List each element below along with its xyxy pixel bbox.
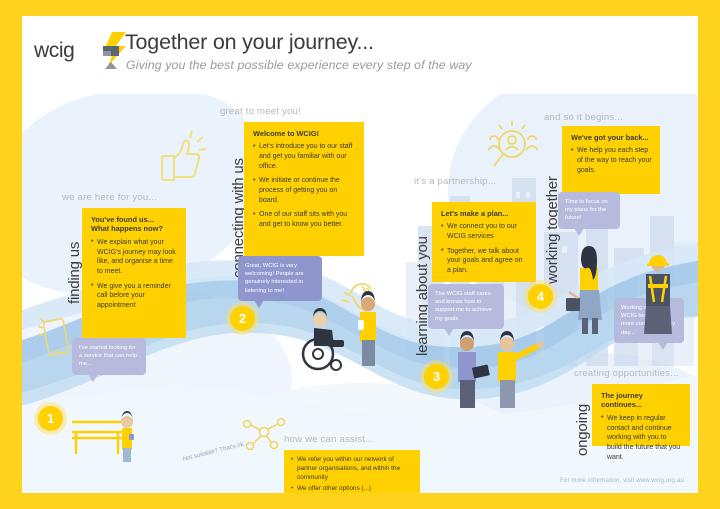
bullet: We initiate or continue the process of g…	[253, 176, 356, 205]
bullet: Together, we talk about your goals and a…	[441, 247, 528, 276]
vlabel-step-1: finding us	[66, 242, 83, 304]
info-box-ongoing: The journey continues... We keep in regu…	[592, 384, 690, 446]
kicker-step-2: great to meet you!	[220, 106, 301, 117]
step-number-4: 4	[528, 284, 553, 309]
person-seated-with-laptop	[458, 331, 490, 408]
footer-text: For more information, visit www.wcig.org…	[560, 477, 684, 484]
page-title: Together on your journey...	[125, 30, 374, 55]
infographic-poster: wcig Together on your journey... Giving …	[0, 0, 720, 509]
bullet: One of our staff sits with you and get t…	[253, 210, 356, 229]
two-people-with-laptop-illustration	[440, 322, 552, 414]
bullet: We offer other options (...)	[291, 485, 413, 493]
info-box-bullets-step-1: We explain what your WCIG's journey may …	[91, 238, 178, 311]
quote-bubble-step-4: Time to focus on my plans for the future…	[558, 192, 620, 229]
info-box-title-ongoing: The journey continues...	[601, 391, 682, 410]
info-box-step-4: We've got your back... We help you each …	[562, 126, 660, 194]
bullet: We explain what your WCIG's journey may …	[91, 238, 178, 277]
network-nodes-icon	[240, 412, 288, 456]
info-box-step-2: Welcome to WCIG! Let's introduce you to …	[244, 122, 364, 256]
woman-walking-with-bag	[566, 246, 602, 334]
info-box-bullets-assist: We refer you within our network of partn…	[291, 456, 413, 493]
bullet: We give you a reminder call before your …	[91, 282, 178, 311]
page-subtitle: Giving you the best possible experience …	[126, 58, 472, 72]
wheelchair-user-and-staff-illustration	[284, 268, 394, 376]
info-box-step-3: Let's make a plan... We connect you to o…	[432, 202, 536, 282]
info-box-title-step-4: We've got your back...	[571, 133, 652, 142]
info-box-bullets-step-2: Let's introduce you to our staff and get…	[253, 142, 356, 229]
info-box-bullets-ongoing: We keep in regular contact and continue …	[601, 414, 682, 462]
people-search-icon	[482, 118, 544, 178]
step-number-3: 3	[424, 364, 449, 389]
info-box-title-step-2: Welcome to WCIG!	[253, 129, 356, 138]
step-number-2: 2	[230, 306, 255, 331]
bullet: Let's introduce you to our staff and get…	[253, 142, 356, 171]
bullet: We keep in regular contact and continue …	[601, 414, 682, 462]
step-number-1: 1	[38, 406, 63, 431]
standing-person	[121, 411, 134, 462]
bullet: We refer you within our network of partn…	[291, 456, 413, 482]
poster-header: wcig Together on your journey... Giving …	[22, 16, 698, 94]
kicker-ongoing: creating opportunities...	[574, 368, 679, 379]
vlabel-ongoing: ongoing	[574, 404, 591, 456]
info-box-bullets-step-3: We connect you to our WCIG services Toge…	[441, 222, 528, 275]
info-box-assist: We refer you within our network of partn…	[284, 450, 420, 493]
woman-walking-and-worker-illustration	[560, 232, 698, 342]
construction-worker	[644, 255, 672, 334]
logo-wordmark: wcig	[34, 39, 74, 63]
person-pointing	[498, 331, 544, 408]
quote-bubble-step-1: I've started looking for a service that …	[72, 338, 146, 375]
wcig-logo: wcig	[32, 30, 132, 78]
person-on-bench-illustration	[66, 402, 144, 472]
kicker-step-1: we are here for you...	[62, 192, 157, 203]
info-box-title-step-3: Let's make a plan...	[441, 209, 528, 218]
info-box-title-step-1: You've found us... What happens now?	[91, 215, 178, 234]
thumbs-up-icon	[150, 128, 208, 190]
kicker-step-4: and so it begins...	[544, 112, 623, 123]
kicker-assist: how we can assist...	[284, 434, 374, 445]
poster-card: wcig Together on your journey... Giving …	[22, 16, 698, 493]
info-box-bullets-step-4: We help you each step of the way to reac…	[571, 146, 652, 175]
person-in-wheelchair	[303, 308, 344, 370]
staff-person-standing	[358, 291, 376, 366]
info-box-step-1: You've found us... What happens now? We …	[82, 208, 186, 338]
bullet: We connect you to our WCIG services	[441, 222, 528, 241]
bullet: We help you each step of the way to reac…	[571, 146, 652, 175]
